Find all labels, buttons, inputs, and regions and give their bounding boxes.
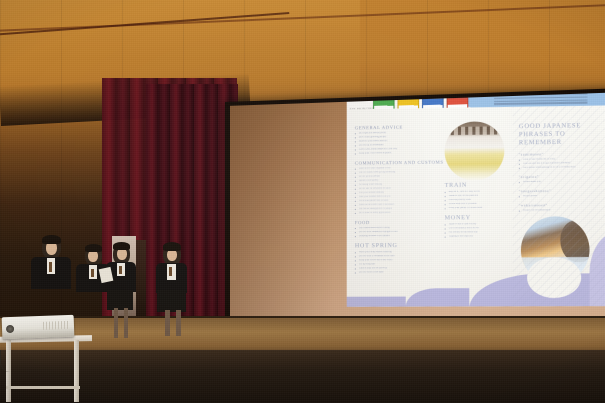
list-item: Means I do not understand: [519, 208, 605, 212]
slide-heading-food: FOOD: [355, 219, 435, 225]
list-item: Avoid loud phone calls in cafes: [355, 199, 435, 203]
projector-cable: [0, 350, 15, 372]
slide-bullets-communication: Learn a few basic Japanese words Use two…: [355, 167, 435, 215]
list-item: Put money on the small tray: [445, 231, 527, 235]
list-item: Keep your phone on silent mode: [445, 206, 527, 210]
phrase-2-notes: Means thank you: [519, 180, 605, 184]
phrase-3-notes: Means please: [519, 194, 605, 198]
list-item: Avoid rush hour if possible: [445, 202, 527, 206]
list-item: Stand in line on the platform: [445, 194, 527, 198]
list-item: Very useful when getting on or off a cro…: [519, 166, 605, 170]
wave-notch: [527, 257, 581, 298]
foreground-shadow: [0, 350, 605, 403]
train-platform-photo: [445, 121, 505, 181]
slide-purple-right-edge: [590, 232, 605, 306]
list-item: Do not stick chopsticks upright in rice: [355, 230, 435, 234]
presenter-4-leg: [176, 310, 181, 336]
current-slide: GENERAL ADVICE Be respectful and be poli…: [347, 105, 605, 307]
table-brace: [6, 386, 80, 389]
previous-slide-text-lines: [494, 93, 587, 106]
slide-bullets-general-advice: Be respectful and be polite Bow when gre…: [355, 131, 435, 155]
list-item: Japan is still a cash society: [445, 223, 527, 227]
presenter-4-skirt: [157, 290, 186, 312]
slide-heading-general-advice: GENERAL ADVICE: [355, 124, 435, 130]
presenter-2-fringe: [85, 244, 102, 252]
train-photo-detail: [451, 126, 499, 135]
list-item: Say itadakimasu before eating: [355, 226, 435, 230]
slide-bullets-food: Say itadakimasu before eating Do not sti…: [355, 226, 435, 238]
projection-screen: SIX PRINCIPLES GENERAL ADVICE Be: [225, 88, 605, 338]
slide-heading-phrases: GOOD JAPANESE PHRASES TO REMEMBER: [519, 122, 605, 148]
presenter-4-leg: [165, 310, 170, 336]
presenter-4-tie: [169, 267, 172, 276]
list-item: Give up priority seats: [445, 198, 527, 202]
presenter-3-tie: [119, 266, 122, 274]
backstage-doorway-edge: [136, 240, 146, 320]
presenter-1-tie: [49, 262, 52, 272]
screen-surface: SIX PRINCIPLES GENERAL ADVICE Be: [230, 93, 605, 328]
projector-vents: [43, 321, 69, 330]
list-item: Stand on the correct side of escalators: [355, 203, 435, 207]
presenter-1-fringe: [42, 235, 61, 244]
phrase-4-notes: Means I do not understand: [519, 208, 605, 212]
list-item: Do not wear a swimsuit in the bath: [355, 255, 435, 258]
list-item: Ask before taking photos of people: [355, 207, 435, 211]
list-item: Means thank you: [519, 180, 605, 184]
list-item: Use convenience store ATMs: [445, 227, 527, 231]
presenter-3-skirt: [107, 290, 133, 310]
wave-segment: [406, 288, 470, 307]
list-item: Be on time for every appointment: [355, 211, 435, 215]
slide-right-column: GOOD JAPANESE PHRASES TO REMEMBER "sumim…: [519, 122, 605, 218]
presenter-2-tie: [91, 269, 94, 277]
slide-heading-train: TRAIN: [445, 182, 527, 189]
phrase-4-term: "wakarimasen": [519, 202, 605, 207]
list-item: Keep your towel out of the water: [355, 259, 435, 262]
presenter-3-leg: [114, 308, 118, 338]
phrase-3-term: "onegaishimasu": [519, 188, 605, 193]
slide-purple-wave: [347, 267, 605, 307]
slide-heading-communication: COMMUNICATION AND CUSTOMS: [355, 160, 435, 166]
slide-heading-hot-spring: HOT SPRING: [355, 242, 435, 249]
phrase-1-term: "sumimasen": [519, 151, 605, 156]
slide-heading-money: MONEY: [445, 214, 527, 221]
phrase-2-term: "arigatou": [519, 174, 605, 179]
slide-bullets-train: Buy an IC card for easy travel Stand in …: [445, 190, 527, 210]
list-item: Slurping noodles is acceptable: [355, 234, 435, 238]
wave-segment: [347, 297, 406, 307]
list-item: Take your rubbish home with you: [355, 195, 435, 199]
presenter-3-fringe: [113, 242, 130, 250]
presenter-3-script-notes: [99, 267, 114, 283]
auditorium-presentation-photo: SIX PRINCIPLES GENERAL ADVICE Be: [0, 0, 605, 403]
list-item: Tipping is not expected: [445, 235, 527, 239]
slide-left-column: GENERAL ADVICE Be respectful and be poli…: [355, 124, 435, 279]
list-item: Tie up long hair: [355, 263, 435, 266]
presenter-4-fringe: [163, 242, 181, 251]
video-projector: [2, 315, 75, 339]
phrase-1-notes: Used to say excuse me or sorry You can a…: [519, 158, 605, 170]
projector-lens-icon: [6, 325, 14, 333]
presenter-3-leg: [124, 308, 128, 338]
table-leg: [74, 340, 79, 402]
list-item: Means please: [519, 194, 605, 198]
slide-bullets-money: Japan is still a cash society Use conven…: [445, 223, 527, 239]
list-item: Keep your voice down in public: [355, 152, 435, 156]
list-item: Wash your body before entering: [355, 251, 435, 254]
slide-middle-column: TRAIN Buy an IC card for easy travel Sta…: [445, 182, 527, 244]
